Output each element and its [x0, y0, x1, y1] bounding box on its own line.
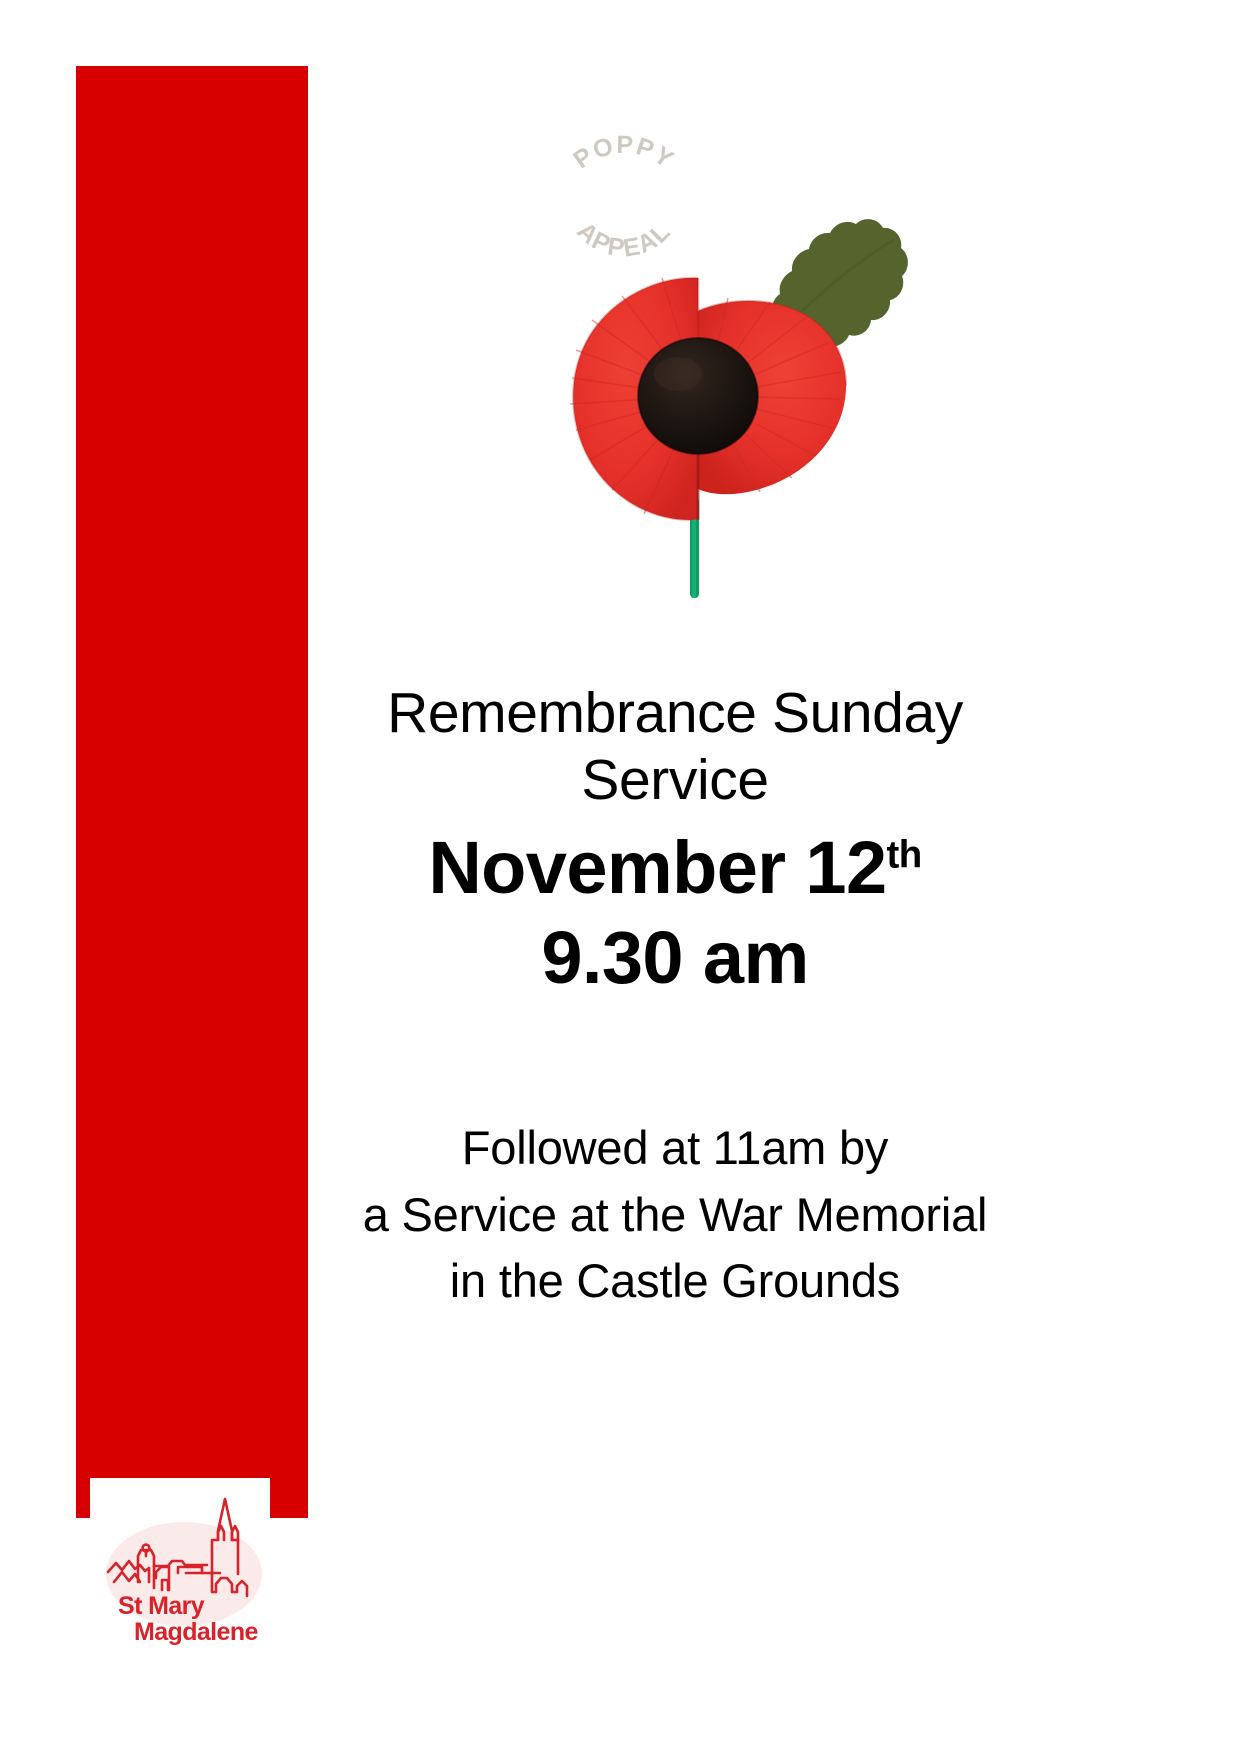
followup-text-block: Followed at 11am by a Service at the War… [310, 1115, 1040, 1315]
logo-artwork: St Mary Magdalene [90, 1478, 270, 1656]
followup-line2: a Service at the War Memorial [310, 1182, 1040, 1249]
poppy-image: POPPY APPEAL [512, 128, 932, 598]
headline-line2: Service [330, 747, 1020, 814]
service-date-text: November 12 [428, 826, 886, 909]
st-mary-magdalene-logo: St Mary Magdalene [90, 1478, 270, 1656]
banner-text-wrapper: Parish Church of St. Mary Magdalene Clit… [76, 66, 308, 1518]
logo-text-line2: Magdalene [134, 1618, 258, 1646]
logo-text-line1: St Mary [118, 1592, 205, 1620]
followup-line3: in the Castle Grounds [310, 1248, 1040, 1315]
service-date: November 12th [330, 823, 1020, 913]
headline-line1: Remembrance Sunday [330, 680, 1020, 747]
main-text-block: Remembrance Sunday Service November 12th… [330, 680, 1020, 1003]
center-highlight [654, 357, 702, 391]
poppy-center-text-bottom: APPEAL [571, 217, 676, 263]
poppy-artwork: POPPY APPEAL [512, 128, 932, 598]
poppy-center-text-top: POPPY [568, 131, 679, 174]
service-date-ordinal: th [887, 833, 922, 876]
followup-line1: Followed at 11am by [310, 1115, 1040, 1182]
red-side-banner: Parish Church of St. Mary Magdalene Clit… [76, 66, 308, 1518]
service-time: 9.30 am [330, 913, 1020, 1003]
